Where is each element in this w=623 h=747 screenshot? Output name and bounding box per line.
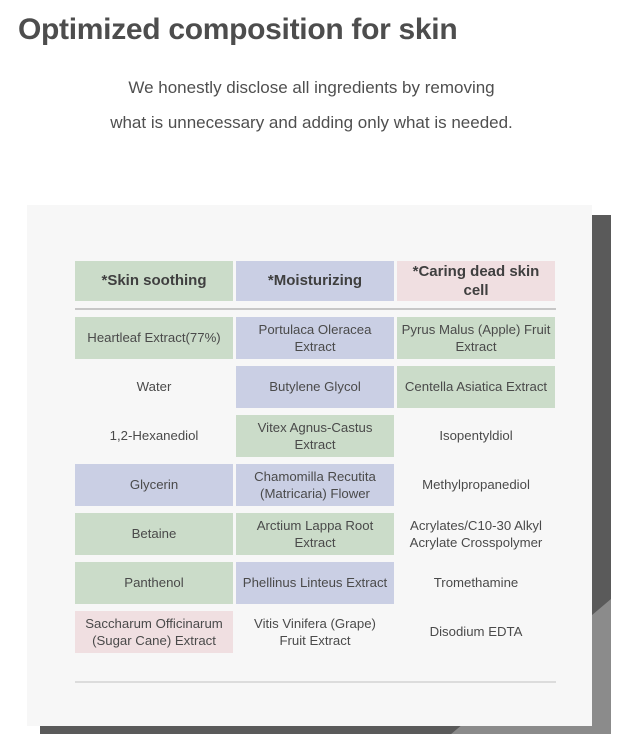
table-header-row: *Skin soothing*Moisturizing*Caring dead … bbox=[75, 261, 556, 301]
table-cell-col-1: Water bbox=[75, 366, 233, 408]
table-row-spacer bbox=[75, 604, 556, 611]
ingredient-card: *Skin soothing*Moisturizing*Caring dead … bbox=[27, 205, 592, 726]
table-row: GlycerinChamomilla Recutita (Matricaria)… bbox=[75, 464, 556, 506]
table-row-spacer bbox=[75, 555, 556, 562]
table-cell-col-3: Centella Asiatica Extract bbox=[397, 366, 555, 408]
table-cell-col-1: Saccharum Officinarum (Sugar Cane) Extra… bbox=[75, 611, 233, 653]
page-subtitle: We honestly disclose all ingredients by … bbox=[0, 49, 623, 141]
table-cell-col-1: Heartleaf Extract(77%) bbox=[75, 317, 233, 359]
table-cell-col-3: Isopentyldiol bbox=[397, 415, 555, 457]
table-cell-col-3: Pyrus Malus (Apple) Fruit Extract bbox=[397, 317, 555, 359]
table-cell-col-1: Betaine bbox=[75, 513, 233, 555]
table-row-spacer bbox=[75, 457, 556, 464]
table-cell-col-2: Butylene Glycol bbox=[236, 366, 394, 408]
table-body: Heartleaf Extract(77%)Portulaca Oleracea… bbox=[75, 317, 556, 653]
ingredient-card-wrapper: *Skin soothing*Moisturizing*Caring dead … bbox=[0, 196, 623, 747]
table-header-cell-col-2: *Moisturizing bbox=[236, 261, 394, 301]
table-bottom-divider bbox=[75, 681, 556, 683]
table-cell-col-2: Vitis Vinifera (Grape) Fruit Extract bbox=[236, 611, 394, 653]
table-cell-col-3: Methylpropanediol bbox=[397, 464, 555, 506]
table-row-spacer bbox=[75, 506, 556, 513]
page-header: Optimized composition for skin We honest… bbox=[0, 0, 623, 141]
table-header-cell-col-1: *Skin soothing bbox=[75, 261, 233, 301]
table-header-gap bbox=[75, 310, 556, 317]
table-cell-col-3: Tromethamine bbox=[397, 562, 555, 604]
table-cell-col-1: 1,2-Hexanediol bbox=[75, 415, 233, 457]
table-row: WaterButylene GlycolCentella Asiatica Ex… bbox=[75, 366, 556, 408]
table-row: Saccharum Officinarum (Sugar Cane) Extra… bbox=[75, 611, 556, 653]
table-cell-col-1: Panthenol bbox=[75, 562, 233, 604]
table-row: Heartleaf Extract(77%)Portulaca Oleracea… bbox=[75, 317, 556, 359]
table-row: PanthenolPhellinus Linteus ExtractTromet… bbox=[75, 562, 556, 604]
ingredient-table: *Skin soothing*Moisturizing*Caring dead … bbox=[75, 261, 556, 683]
table-cell-col-3: Acrylates/C10-30 Alkyl Acrylate Crosspol… bbox=[397, 513, 555, 555]
table-bottom-gap bbox=[75, 653, 556, 681]
table-cell-col-2: Chamomilla Recutita (Matricaria) Flower bbox=[236, 464, 394, 506]
table-cell-col-2: Portulaca Oleracea Extract bbox=[236, 317, 394, 359]
subtitle-line-2: what is unnecessary and adding only what… bbox=[110, 113, 513, 132]
page-title: Optimized composition for skin bbox=[0, 6, 623, 49]
subtitle-line-1: We honestly disclose all ingredients by … bbox=[128, 78, 494, 97]
table-row: BetaineArctium Lappa Root ExtractAcrylat… bbox=[75, 513, 556, 555]
table-cell-col-2: Phellinus Linteus Extract bbox=[236, 562, 394, 604]
table-row: 1,2-HexanediolVitex Agnus-Castus Extract… bbox=[75, 415, 556, 457]
table-cell-col-3: Disodium EDTA bbox=[397, 611, 555, 653]
table-header-cell-col-3: *Caring dead skin cell bbox=[397, 261, 555, 301]
table-cell-col-2: Arctium Lappa Root Extract bbox=[236, 513, 394, 555]
table-row-spacer bbox=[75, 408, 556, 415]
table-row-spacer bbox=[75, 359, 556, 366]
table-cell-col-1: Glycerin bbox=[75, 464, 233, 506]
table-cell-col-2: Vitex Agnus-Castus Extract bbox=[236, 415, 394, 457]
